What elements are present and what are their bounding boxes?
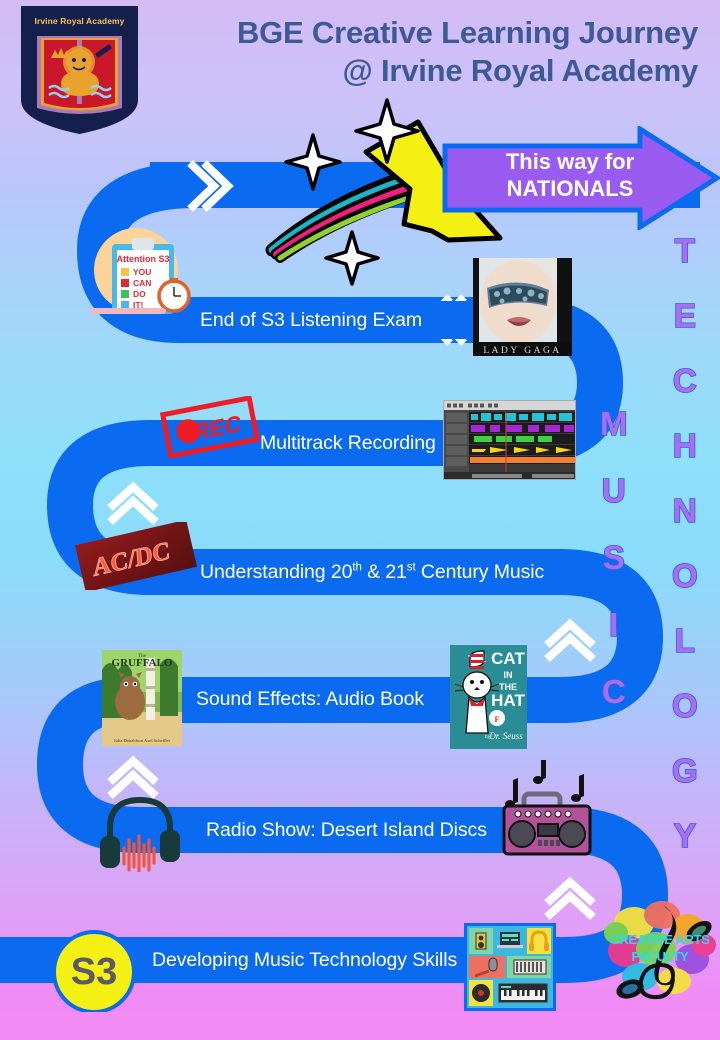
music-letter: U <box>602 474 626 507</box>
school-crest: Irvine Royal Academy <box>17 4 142 136</box>
cat-in-the-hat-book-image: THE CAT IN THE HAT <box>450 645 527 749</box>
svg-text:F: F <box>495 715 500 724</box>
faculty-line2: FACULTY <box>600 948 720 965</box>
milestone-bar: Radio Show: Desert Island Discs <box>168 811 520 849</box>
milestone-label-listening-exam: End of S3 Listening Exam <box>200 309 422 332</box>
music-letter: C <box>602 675 626 708</box>
svg-text:by: by <box>485 735 491 740</box>
nationals-arrow-label: This way for NATIONALS <box>480 148 660 202</box>
svg-text:LADY GAGA: LADY GAGA <box>483 346 561 356</box>
faculty-logo-label: CREATIVE ARTS FACULTY <box>600 931 720 965</box>
nationals-line1: This way for <box>480 148 660 175</box>
century-label-sup1: th <box>352 561 361 573</box>
svg-text:DO: DO <box>133 289 146 299</box>
boombox-image <box>498 760 594 865</box>
technology-letter: G <box>672 754 698 787</box>
creative-arts-faculty-logo: CREATIVE ARTS FACULTY <box>600 893 720 1005</box>
milestone-label-multitrack: Multitrack Recording <box>260 432 436 455</box>
svg-text:Dr. Seuss: Dr. Seuss <box>488 731 523 741</box>
page-title: BGE Creative Learning Journey @ Irvine R… <box>237 14 698 90</box>
music-letter: I <box>609 608 618 641</box>
svg-text:IN: IN <box>504 670 513 680</box>
bottom-color-band <box>0 1012 720 1040</box>
century-label-pre: Understanding 20 <box>200 561 352 583</box>
rec-stamp-image: REC <box>158 396 262 458</box>
vertical-word-technology: T E C H N O L O G Y <box>672 234 698 884</box>
attention-s3-clipboard-image: Attention S3 YOU CAN DO IT! <box>84 226 202 318</box>
svg-text:CAT: CAT <box>491 649 525 668</box>
gruffalo-book-image: GRUFFALO The Julia Donaldson Axel Scheff… <box>102 650 182 746</box>
technology-letter: O <box>672 689 698 722</box>
milestone-bar: Understanding 20th & 21st Century Music <box>150 553 560 591</box>
stage-badge-label: S3 <box>71 951 117 994</box>
century-label-mid: & 21 <box>362 561 407 583</box>
headphones-waveform-image <box>98 790 194 872</box>
technology-letter: O <box>672 559 698 592</box>
svg-text:The: The <box>138 654 147 659</box>
nationals-arrow[interactable]: This way for NATIONALS <box>442 126 720 230</box>
music-technology-collage-image <box>464 923 556 1011</box>
acdc-neon-image: AC/DC <box>75 522 197 590</box>
technology-letter: Y <box>674 819 696 852</box>
page-title-line2: @ Irvine Royal Academy <box>237 52 698 90</box>
faculty-line1: CREATIVE ARTS <box>600 931 720 948</box>
svg-text:REC: REC <box>193 410 241 446</box>
milestone-bar: End of S3 Listening Exam <box>160 301 480 339</box>
milestone-label-century-music: Understanding 20th & 21st Century Music <box>200 561 544 584</box>
milestone-label-radio-show: Radio Show: Desert Island Discs <box>206 819 487 842</box>
lady-gaga-album-image: LADY GAGA <box>473 258 572 356</box>
milestone-label-sound-effects: Sound Effects: Audio Book <box>196 688 424 711</box>
century-label-sup2: st <box>407 561 416 573</box>
music-letter: M <box>600 407 628 440</box>
svg-text:YOU: YOU <box>133 267 151 277</box>
century-label-post: Century Music <box>416 561 545 583</box>
svg-text:CAN: CAN <box>133 278 151 288</box>
milestone-bar: Sound Effects: Audio Book <box>188 680 480 718</box>
technology-letter: C <box>673 364 697 397</box>
page-title-line1: BGE Creative Learning Journey <box>237 14 698 52</box>
stage-badge-s3: S3 <box>52 930 136 1014</box>
technology-letter: L <box>675 624 695 657</box>
svg-text:HAT: HAT <box>491 691 525 710</box>
technology-letter: H <box>673 429 697 462</box>
svg-text:Julia Donaldson Axel Scheffle: Julia Donaldson Axel Scheffler <box>114 738 171 743</box>
vertical-word-music: M U S I C <box>600 407 628 742</box>
poster-canvas: Irvine Royal Academy BGE Creative Learni… <box>0 0 720 1040</box>
technology-letter: N <box>673 494 697 527</box>
crest-school-name: Irvine Royal Academy <box>17 16 142 26</box>
milestone-label-music-tech: Developing Music Technology Skills <box>152 949 457 972</box>
nationals-line2: NATIONALS <box>480 175 660 202</box>
daw-multitrack-image <box>443 400 576 480</box>
technology-letter: E <box>674 299 696 332</box>
svg-text:Attention S3: Attention S3 <box>117 254 170 264</box>
music-letter: S <box>603 541 625 574</box>
technology-letter: T <box>675 234 695 267</box>
